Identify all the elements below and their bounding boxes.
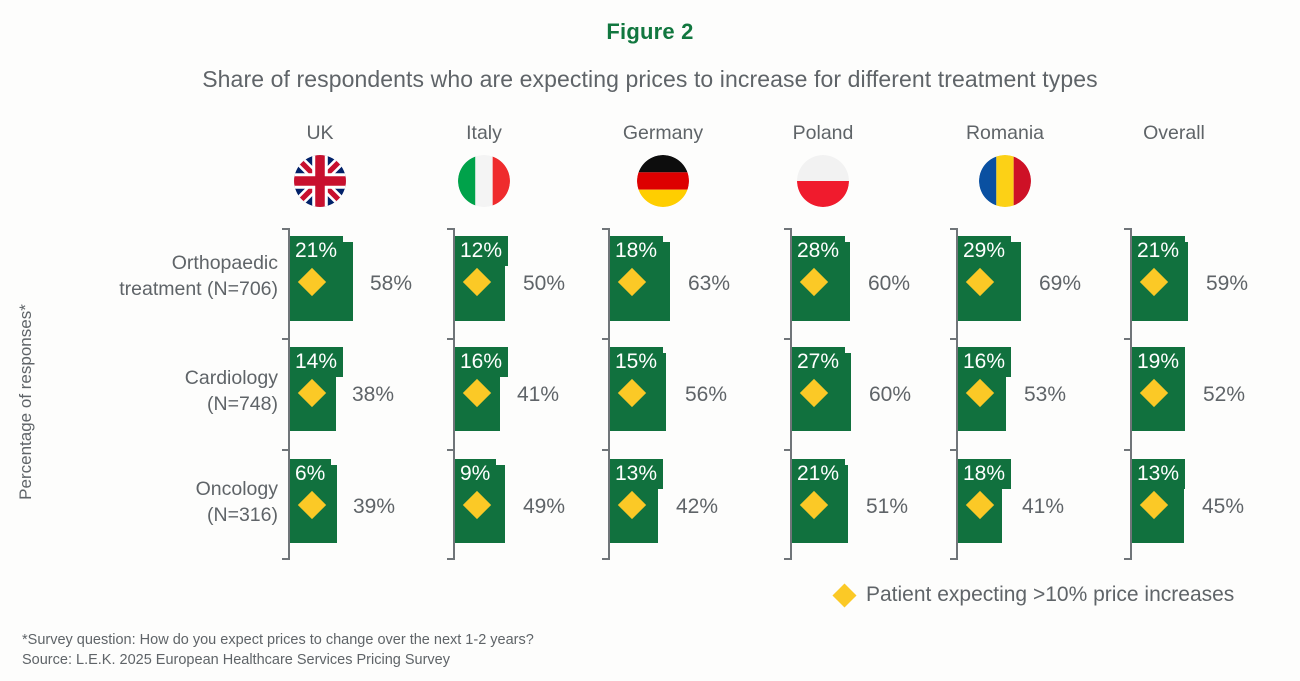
axis-tick bbox=[447, 558, 455, 560]
column-label: Romania bbox=[930, 122, 1080, 145]
axis-tick bbox=[950, 558, 958, 560]
axis-tick bbox=[447, 228, 455, 230]
axis-tick bbox=[282, 338, 290, 340]
axis-tick bbox=[950, 449, 958, 451]
axis-tick bbox=[1124, 449, 1132, 451]
flag-romania-icon bbox=[979, 155, 1031, 207]
column-header-italy: Italy bbox=[409, 122, 559, 207]
column-header-overall: Overall bbox=[1099, 122, 1249, 155]
bar-group-italy: 12% 50% 16% 41% 9% 49% bbox=[453, 228, 623, 568]
bar-outer-value: 52% bbox=[1203, 383, 1245, 407]
bar-inner-value: 21% bbox=[792, 459, 845, 489]
bar-inner-value: 12% bbox=[455, 236, 508, 266]
bar-outer-value: 69% bbox=[1039, 272, 1081, 296]
column-header-romania: Romania bbox=[930, 122, 1080, 207]
axis-tick bbox=[602, 558, 610, 560]
bar-outer-value: 60% bbox=[869, 383, 911, 407]
bar-outer-value: 58% bbox=[370, 272, 412, 296]
axis-tick bbox=[784, 338, 792, 340]
column-label: Germany bbox=[588, 122, 738, 145]
column-label: Poland bbox=[748, 122, 898, 145]
flag-uk-icon bbox=[294, 155, 346, 207]
axis-tick bbox=[1124, 228, 1132, 230]
bar-outer-value: 53% bbox=[1024, 383, 1066, 407]
column-label: Italy bbox=[409, 122, 559, 145]
bar-outer-value: 45% bbox=[1202, 495, 1244, 519]
bar-inner-value: 15% bbox=[610, 347, 663, 377]
column-header-germany: Germany bbox=[588, 122, 738, 207]
axis-tick bbox=[282, 449, 290, 451]
bar-outer-value: 50% bbox=[523, 272, 565, 296]
row-label-line1: Cardiology bbox=[185, 367, 278, 389]
row-label-oncology: Oncology (N=316) bbox=[48, 476, 278, 528]
bar-outer-value: 49% bbox=[523, 495, 565, 519]
row-label-orthopaedic: Orthopaedic treatment (N=706) bbox=[48, 250, 278, 302]
bar-inner-value: 21% bbox=[1132, 236, 1185, 266]
row-label-line1: Orthopaedic bbox=[172, 252, 278, 274]
column-header-poland: Poland bbox=[748, 122, 898, 207]
axis-tick bbox=[1124, 338, 1132, 340]
axis-tick bbox=[784, 228, 792, 230]
bar-outer-value: 41% bbox=[517, 383, 559, 407]
column-header-uk: UK bbox=[245, 122, 395, 207]
bar-inner-value: 18% bbox=[610, 236, 663, 266]
bar-outer-value: 60% bbox=[868, 272, 910, 296]
axis-tick bbox=[1124, 558, 1132, 560]
row-label-line2: (N=748) bbox=[48, 391, 278, 417]
flag-italy-icon bbox=[458, 155, 510, 207]
axis-tick bbox=[282, 228, 290, 230]
axis-tick bbox=[602, 449, 610, 451]
bar-inner-value: 13% bbox=[610, 459, 663, 489]
bar-outer-value: 56% bbox=[685, 383, 727, 407]
bar-inner-value: 19% bbox=[1132, 347, 1185, 377]
bar-outer-value: 42% bbox=[676, 495, 718, 519]
bar-inner-value: 13% bbox=[1132, 459, 1185, 489]
bar-inner-value: 18% bbox=[958, 459, 1011, 489]
bar-inner-value: 21% bbox=[290, 236, 343, 266]
flag-poland-icon bbox=[797, 155, 849, 207]
bar-group-overall: 21% 59% 19% 52% 13% 45% bbox=[1130, 228, 1300, 568]
chart-legend: Patient expecting >10% price increases bbox=[836, 583, 1234, 607]
bar-outer-value: 41% bbox=[1022, 495, 1064, 519]
footnote-survey-question: *Survey question: How do you expect pric… bbox=[22, 630, 534, 650]
column-label: Overall bbox=[1099, 122, 1249, 145]
axis-tick bbox=[950, 338, 958, 340]
bar-group-uk: 21% 58% 14% 38% 6% 39% bbox=[288, 228, 458, 568]
bar-group-romania: 29% 69% 16% 53% 18% 41% bbox=[956, 228, 1126, 568]
axis-tick bbox=[447, 338, 455, 340]
bar-inner-value: 6% bbox=[290, 459, 331, 489]
bar-group-poland: 28% 60% 27% 60% 21% 51% bbox=[790, 228, 960, 568]
bar-group-germany: 18% 63% 15% 56% 13% 42% bbox=[608, 228, 778, 568]
legend-label: Patient expecting >10% price increases bbox=[866, 583, 1234, 607]
bar-inner-value: 28% bbox=[792, 236, 845, 266]
bar-inner-value: 14% bbox=[290, 347, 343, 377]
bar-outer-value: 38% bbox=[352, 383, 394, 407]
diamond-marker-icon bbox=[832, 583, 856, 607]
axis-tick bbox=[784, 558, 792, 560]
column-label: UK bbox=[245, 122, 395, 145]
bar-inner-value: 16% bbox=[958, 347, 1011, 377]
bar-outer-value: 51% bbox=[866, 495, 908, 519]
axis-tick bbox=[282, 558, 290, 560]
chart-plot-area: UK Italy bbox=[0, 0, 1300, 681]
bar-inner-value: 27% bbox=[792, 347, 845, 377]
bar-outer-value: 63% bbox=[688, 272, 730, 296]
flag-germany-icon bbox=[637, 155, 689, 207]
bar-outer-value: 59% bbox=[1206, 272, 1248, 296]
axis-tick bbox=[784, 449, 792, 451]
axis-tick bbox=[602, 338, 610, 340]
row-label-line1: Oncology bbox=[196, 478, 278, 500]
bar-inner-value: 16% bbox=[455, 347, 508, 377]
row-label-cardiology: Cardiology (N=748) bbox=[48, 365, 278, 417]
bar-inner-value: 29% bbox=[958, 236, 1011, 266]
axis-tick bbox=[950, 228, 958, 230]
footnote-source: Source: L.E.K. 2025 European Healthcare … bbox=[22, 650, 534, 670]
axis-tick bbox=[447, 449, 455, 451]
axis-tick bbox=[602, 228, 610, 230]
bar-inner-value: 9% bbox=[455, 459, 496, 489]
bar-outer-value: 39% bbox=[353, 495, 395, 519]
row-label-line2: (N=316) bbox=[48, 502, 278, 528]
footnotes: *Survey question: How do you expect pric… bbox=[22, 630, 534, 670]
row-label-line2: treatment (N=706) bbox=[48, 276, 278, 302]
